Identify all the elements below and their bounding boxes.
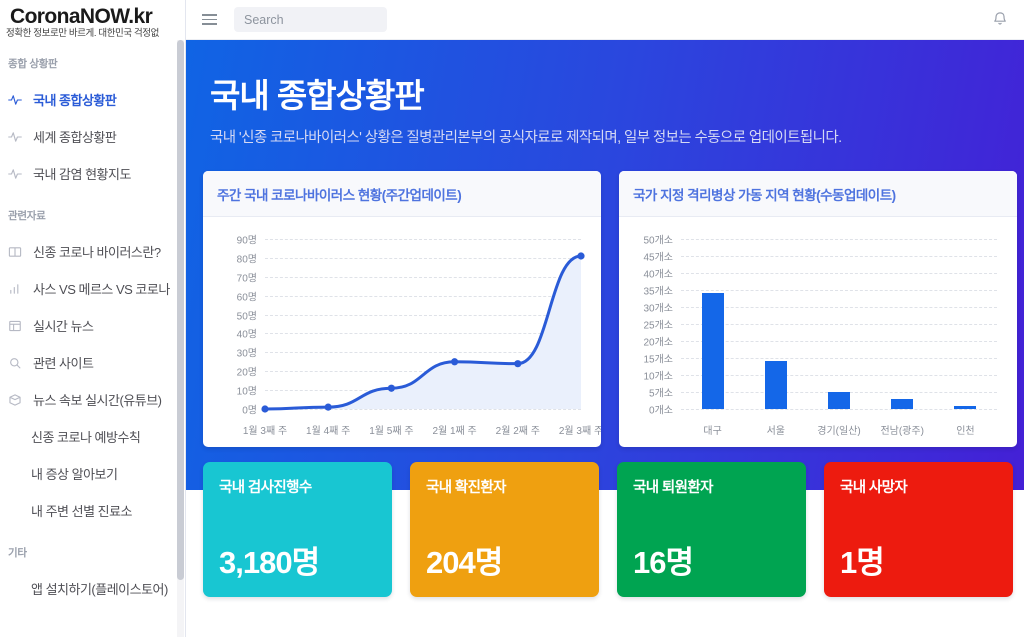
stat-card-value: 16명 (633, 537, 790, 582)
gridline (681, 307, 997, 308)
chart-title: 국가 지정 격리병상 가동 지역 현황(수동업데이트) (633, 184, 1003, 204)
hero-section: 국내 종합상황판 국내 '신종 코로나바이러스' 상황은 질병관리본부의 공식자… (186, 40, 1024, 637)
sidebar-item-1-5[interactable]: 신종 코로나 예방수칙 (0, 418, 185, 455)
sidebar-item-0-0[interactable]: 국내 종합상황판 (0, 81, 185, 118)
x-axis-tick-label: 전남(광주) (880, 422, 923, 437)
gridline (681, 375, 997, 376)
sidebar-nav: 종합 상황판국내 종합상황판세계 종합상황판국내 감염 현황지도관련자료신종 코… (0, 40, 185, 637)
x-axis-tick-label: 경기(일산) (817, 422, 860, 437)
data-point (325, 404, 332, 411)
main-content: 국내 종합상황판 국내 '신종 코로나바이러스' 상황은 질병관리본부의 공식자… (186, 0, 1024, 637)
book-icon (8, 245, 30, 259)
x-axis-tick-label: 인천 (956, 422, 974, 437)
sidebar-item-label: 신종 코로나 예방수칙 (31, 427, 140, 446)
sidebar-item-label: 관련 사이트 (30, 353, 93, 372)
bar-chart-icon (8, 282, 30, 296)
gridline (681, 324, 997, 325)
layout-icon (8, 319, 30, 333)
bell-icon[interactable] (988, 8, 1012, 32)
sidebar-item-2-0[interactable]: 앱 설치하기(플레이스토어) (0, 570, 185, 607)
x-axis-tick-label: 서울 (767, 422, 785, 437)
sidebar-item-label: 사스 VS 메르스 VS 코로나 (30, 279, 170, 298)
stat-card-value: 204명 (426, 537, 583, 582)
y-axis-tick-label: 0개소 (625, 402, 673, 417)
sidebar: CoronaNOW.kr 정확한 정보로만 바르게. 대한민국 걱정없 종합 상… (0, 0, 186, 637)
sidebar-scrollbar-thumb[interactable] (177, 40, 184, 580)
data-point (451, 358, 458, 365)
y-axis-tick-label: 50개소 (625, 232, 673, 247)
hamburger-icon[interactable] (196, 7, 222, 33)
sidebar-item-1-4[interactable]: 뉴스 속보 실시간(유튜브) (0, 381, 185, 418)
activity-icon (8, 130, 30, 144)
x-axis-tick-label: 대구 (703, 422, 721, 437)
gridline (681, 358, 997, 359)
y-axis-tick-label: 40개소 (625, 266, 673, 281)
gridline (681, 273, 997, 274)
sidebar-item-1-0[interactable]: 신종 코로나 바이러스란? (0, 233, 185, 270)
sidebar-item-label: 내 주변 선별 진료소 (31, 501, 132, 520)
app-root: CoronaNOW.kr 정확한 정보로만 바르게. 대한민국 걱정없 종합 상… (0, 0, 1024, 637)
chart-card-1: 국가 지정 격리병상 가동 지역 현황(수동업데이트)0개소5개소10개소15개… (619, 171, 1017, 447)
activity-icon (8, 93, 30, 107)
sidebar-item-label: 실시간 뉴스 (30, 316, 93, 335)
y-axis-tick-label: 10개소 (625, 368, 673, 383)
stat-card-3[interactable]: 국내 사망자1명 (824, 462, 1013, 597)
stat-card-value: 1명 (840, 537, 997, 582)
data-point (261, 405, 268, 412)
data-point (577, 252, 584, 259)
bar (954, 406, 976, 409)
box-icon (8, 393, 30, 407)
y-axis-tick-label: 25개소 (625, 317, 673, 332)
activity-icon (8, 167, 30, 181)
charts-row: 주간 국내 코로나바이러스 현황(주간업데이트)0명10명20명30명40명50… (186, 147, 1024, 447)
sidebar-item-label: 내 증상 알아보기 (31, 464, 117, 483)
stat-card-label: 국내 사망자 (840, 476, 997, 497)
hero-text-block: 국내 종합상황판 국내 '신종 코로나바이러스' 상황은 질병관리본부의 공식자… (186, 40, 1024, 147)
sidebar-item-1-1[interactable]: 사스 VS 메르스 VS 코로나 (0, 270, 185, 307)
sidebar-item-1-6[interactable]: 내 증상 알아보기 (0, 455, 185, 492)
search-icon (8, 356, 30, 370)
bar (765, 361, 787, 409)
brand-title: CoronaNOW.kr (6, 5, 185, 28)
bar (828, 392, 850, 409)
topbar (186, 0, 1024, 40)
page-subtitle: 국내 '신종 코로나바이러스' 상황은 질병관리본부의 공식자료로 제작되며, … (210, 126, 1024, 147)
bar (891, 399, 913, 409)
y-axis-tick-label: 30개소 (625, 300, 673, 315)
y-axis-tick-label: 5개소 (625, 385, 673, 400)
chart-card-header: 국가 지정 격리병상 가동 지역 현황(수동업데이트) (619, 171, 1017, 217)
plot-wrap: 0개소5개소10개소15개소20개소25개소30개소35개소40개소45개소50… (625, 231, 1007, 437)
stat-card-1[interactable]: 국내 확진환자204명 (410, 462, 599, 597)
sidebar-item-label: 국내 종합상황판 (30, 90, 116, 109)
stat-card-label: 국내 확진환자 (426, 476, 583, 497)
search-input[interactable] (234, 7, 387, 32)
sidebar-item-label: 세계 종합상황판 (30, 127, 116, 146)
stats-row: 국내 검사진행수3,180명국내 확진환자204명국내 퇴원환자16명국내 사망… (186, 447, 1024, 597)
chart-plot-area: 0명10명20명30명40명50명60명70명80명90명1월 3째 주1월 4… (203, 217, 601, 447)
line-area-fill (265, 256, 581, 409)
sidebar-item-1-3[interactable]: 관련 사이트 (0, 344, 185, 381)
sidebar-item-label: 신종 코로나 바이러스란? (30, 242, 161, 261)
chart-title: 주간 국내 코로나바이러스 현황(주간업데이트) (217, 184, 587, 204)
sidebar-section-label: 관련자료 (0, 192, 185, 233)
stat-card-0[interactable]: 국내 검사진행수3,180명 (203, 462, 392, 597)
chart-plot-area: 0개소5개소10개소15개소20개소25개소30개소35개소40개소45개소50… (619, 217, 1017, 447)
sidebar-item-label: 뉴스 속보 실시간(유튜브) (30, 390, 161, 409)
y-axis-tick-label: 20개소 (625, 334, 673, 349)
gridline (681, 239, 997, 240)
bar (702, 293, 724, 409)
gridline (681, 341, 997, 342)
sidebar-section-label: 기타 (0, 529, 185, 570)
y-axis-tick-label: 35개소 (625, 283, 673, 298)
sidebar-item-1-7[interactable]: 내 주변 선별 진료소 (0, 492, 185, 529)
stat-card-label: 국내 검사진행수 (219, 476, 376, 497)
chart-card-0: 주간 국내 코로나바이러스 현황(주간업데이트)0명10명20명30명40명50… (203, 171, 601, 447)
sidebar-item-0-1[interactable]: 세계 종합상황판 (0, 118, 185, 155)
sidebar-item-1-2[interactable]: 실시간 뉴스 (0, 307, 185, 344)
y-axis-tick-label: 15개소 (625, 351, 673, 366)
sidebar-section-label: 종합 상황판 (0, 40, 185, 81)
brand-subtitle: 정확한 정보로만 바르게. 대한민국 걱정없 (6, 28, 185, 40)
gridline (681, 409, 997, 410)
line-series-svg (209, 231, 591, 437)
chart-card-header: 주간 국내 코로나바이러스 현황(주간업데이트) (203, 171, 601, 217)
sidebar-item-0-2[interactable]: 국내 감염 현황지도 (0, 155, 185, 192)
plot-wrap: 0명10명20명30명40명50명60명70명80명90명1월 3째 주1월 4… (209, 231, 591, 437)
sidebar-item-label: 앱 설치하기(플레이스토어) (31, 579, 168, 598)
gridline (681, 290, 997, 291)
stat-card-value: 3,180명 (219, 537, 376, 582)
sidebar-item-label: 국내 감염 현황지도 (30, 164, 131, 183)
stat-card-label: 국내 퇴원환자 (633, 476, 790, 497)
data-point (388, 385, 395, 392)
stat-card-2[interactable]: 국내 퇴원환자16명 (617, 462, 806, 597)
sidebar-scrollbar[interactable] (177, 40, 184, 637)
page-title: 국내 종합상황판 (210, 76, 1024, 116)
brand-block[interactable]: CoronaNOW.kr 정확한 정보로만 바르게. 대한민국 걱정없 (0, 0, 185, 40)
y-axis-tick-label: 45개소 (625, 249, 673, 264)
gridline (681, 256, 997, 257)
data-point (514, 360, 521, 367)
